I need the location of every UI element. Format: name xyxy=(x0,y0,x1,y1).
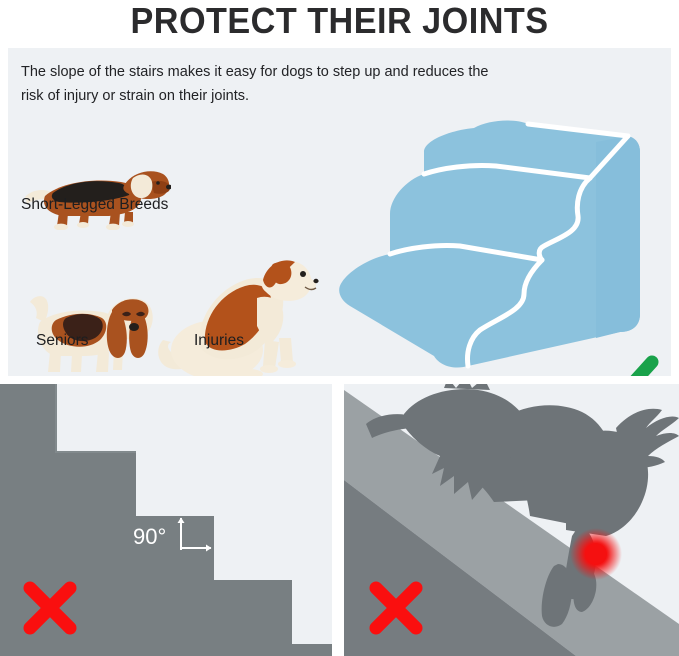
top-panel: The slope of the stairs makes it easy fo… xyxy=(8,48,671,376)
page-title: PROTECT THEIR JOINTS xyxy=(17,0,662,46)
bottom-right-panel xyxy=(344,384,679,656)
dachshund-illustration xyxy=(21,160,171,230)
infographic-page: PROTECT THEIR JOINTS The slope of the st… xyxy=(0,0,679,656)
cross-mark-icon xyxy=(368,580,424,636)
angle-label: 90° xyxy=(133,524,166,550)
check-mark-icon xyxy=(588,354,660,376)
caption-injuries: Injuries xyxy=(194,332,244,350)
bottom-left-panel xyxy=(0,384,332,656)
basset-hound-illustration xyxy=(16,286,156,376)
pet-stairs-illustration xyxy=(328,118,658,376)
caption-short-legged-breeds: Short-Legged Breeds xyxy=(21,196,168,214)
sitting-dog-illustration xyxy=(153,254,323,376)
cross-mark-icon xyxy=(22,580,78,636)
caption-seniors: Seniors xyxy=(36,332,89,350)
intro-text: The slope of the stairs makes it easy fo… xyxy=(21,60,501,108)
